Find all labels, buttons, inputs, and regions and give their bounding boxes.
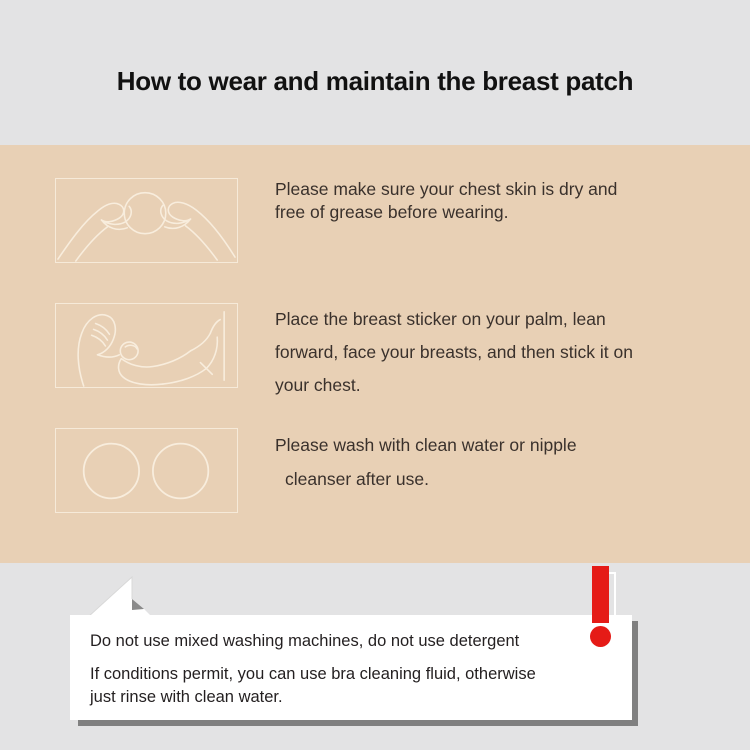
step-row: Place the breast sticker on your palm, l… — [0, 303, 750, 402]
page-title: How to wear and maintain the breast patc… — [0, 66, 750, 97]
exclamation-dot — [590, 626, 611, 647]
step-text: Please make sure your chest skin is dry … — [275, 178, 730, 224]
step-text: Place the breast sticker on your palm, l… — [275, 303, 730, 402]
step-text-line: cleanser after use. — [275, 462, 730, 496]
header-section: How to wear and maintain the breast patc… — [0, 0, 750, 145]
infographic-page: How to wear and maintain the breast patc… — [0, 0, 750, 750]
step-row: Please wash with clean water or nipple c… — [0, 428, 750, 513]
exclamation-bar — [592, 566, 609, 623]
two-patch-circles-icon — [55, 428, 238, 513]
hand-applying-patch-to-chest-icon — [55, 303, 238, 388]
two-hands-holding-patch-icon — [55, 178, 238, 263]
callout-tail — [88, 576, 152, 618]
step-text-line: forward, face your breasts, and then sti… — [275, 336, 730, 369]
note-line: If conditions permit, you can use bra cl… — [90, 665, 536, 684]
exclamation-mark-icon — [580, 566, 636, 656]
note-section: Do not use mixed washing machines, do no… — [0, 563, 750, 750]
step-text-line: your chest. — [275, 369, 730, 402]
step-text-line: Please wash with clean water or nipple — [275, 428, 730, 462]
step-text-line: free of grease before wearing. — [275, 201, 730, 224]
note-box: Do not use mixed washing machines, do no… — [70, 615, 632, 720]
step-text-line: Place the breast sticker on your palm, l… — [275, 303, 730, 336]
step-text: Please wash with clean water or nipple c… — [275, 428, 730, 496]
steps-band: Please make sure your chest skin is dry … — [0, 145, 750, 563]
note-line: Do not use mixed washing machines, do no… — [90, 632, 519, 651]
note-line: just rinse with clean water. — [90, 688, 283, 707]
step-row: Please make sure your chest skin is dry … — [0, 178, 750, 263]
step-text-line: Please make sure your chest skin is dry … — [275, 178, 730, 201]
